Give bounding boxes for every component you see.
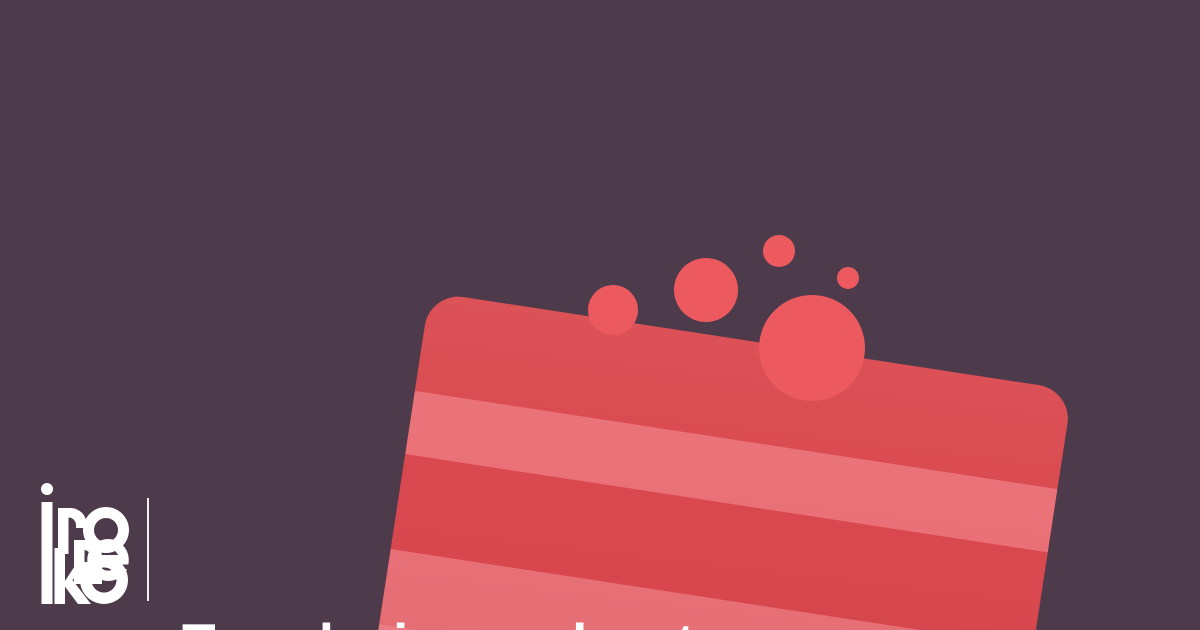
card-stripes [430,292,1073,390]
bubble-xsmall-right [837,267,859,289]
bubble-tiny-top [763,235,795,267]
bubble-medium-left [674,258,738,322]
bubble-small-left [588,285,638,335]
og-image-canvas: Two design podcasts every creative shoul… [0,0,1200,630]
headline: Two design podcasts every creative shoul… [182,473,1082,630]
bubble-large [759,295,865,401]
headline-line-1: Two design podcasts every [182,609,1082,630]
logo-headline-divider [147,498,149,601]
ironeko-logo [38,482,130,604]
